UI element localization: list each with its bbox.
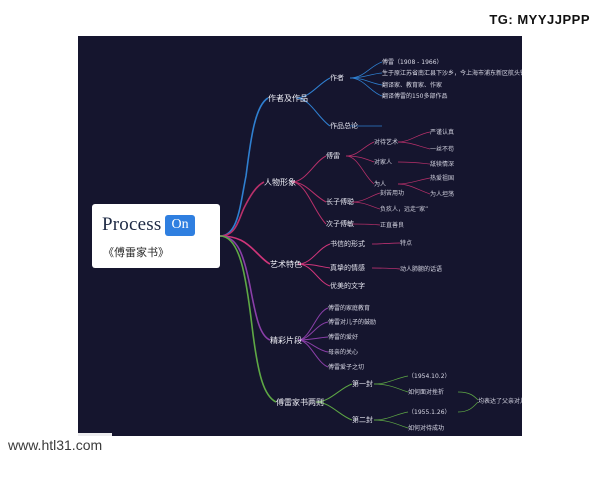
mindmap-canvas[interactable]: Process On 《傅雷家书》 作者及作品 作者 傅雷（1908 - 196… xyxy=(78,36,522,436)
node-letters-summary[interactable]: 均表达了父亲对儿子的舐犊之情 xyxy=(478,396,522,407)
node-excerpt-3[interactable]: 傅雷的爱好 xyxy=(328,332,358,343)
node-art-trait-2[interactable]: 一丝不苟 xyxy=(430,144,454,155)
node-excerpt-4[interactable]: 母亲的关心 xyxy=(328,347,358,358)
node-fulei[interactable]: 傅雷 xyxy=(326,151,340,162)
node-letter-2[interactable]: 第二封 xyxy=(352,415,373,426)
node-fucong[interactable]: 长子傅聪 xyxy=(326,197,354,208)
node-letter-1[interactable]: 第一封 xyxy=(352,379,373,390)
node-author-life[interactable]: 傅雷（1908 - 1966） xyxy=(382,57,443,68)
node-sincere-emotion[interactable]: 真挚的情感 xyxy=(330,263,365,274)
node-fumin[interactable]: 次子傅敏 xyxy=(326,219,354,230)
node-author-translations[interactable]: 翻译傅雷的150多部作品 xyxy=(382,91,447,102)
node-to-family[interactable]: 对家人 xyxy=(374,157,392,168)
telegram-badge: TG: MYYJJPPP xyxy=(479,8,600,32)
screenshot-stage: Process On 《傅雷家书》 作者及作品 作者 傅雷（1908 - 196… xyxy=(0,0,600,480)
node-artistic-features[interactable]: 艺术特色 xyxy=(270,259,302,270)
node-excerpt-5[interactable]: 傅雷爱子之切 xyxy=(328,362,364,373)
node-author-roles[interactable]: 翻译家、教育家、作家 xyxy=(382,80,442,91)
node-author-and-works[interactable]: 作者及作品 xyxy=(268,93,308,104)
processon-logo-card[interactable]: Process On 《傅雷家书》 xyxy=(92,204,220,268)
node-letter-1-date[interactable]: （1954.10.2） xyxy=(408,371,451,382)
node-excerpts[interactable]: 精彩片段 xyxy=(270,335,302,346)
node-author-birthplace[interactable]: 生于原江苏省南汇县下沙乡，今上海市浦东新区航头镇 xyxy=(382,68,522,79)
node-two-letters[interactable]: 傅雷家书两则 xyxy=(276,397,324,408)
node-letter-form[interactable]: 书信的形式 xyxy=(330,239,365,250)
logo-wordmark: Process On xyxy=(102,214,195,236)
node-art-trait-1[interactable]: 严谨认真 xyxy=(430,127,454,138)
node-letter-2-theme[interactable]: 如何对待成功 xyxy=(408,423,444,434)
logo-subtitle: 《傅雷家书》 xyxy=(103,244,169,260)
node-fumin-trait-1[interactable]: 正直善良 xyxy=(380,220,404,231)
logo-word-on: On xyxy=(165,215,194,236)
node-works-overview[interactable]: 作品总论 xyxy=(330,121,358,132)
node-attitude-to-art[interactable]: 对待艺术 xyxy=(374,137,398,148)
node-letter-2-date[interactable]: （1955.1.26） xyxy=(408,407,451,418)
logo-word-process: Process xyxy=(102,214,161,236)
node-fucong-trait-2[interactable]: 负疚人，远走“家” xyxy=(380,204,428,215)
node-beautiful-text[interactable]: 优美的文字 xyxy=(330,281,365,292)
node-characters[interactable]: 人物形象 xyxy=(264,177,296,188)
node-letter-form-trait[interactable]: 特点 xyxy=(400,238,412,249)
node-person-trait-2[interactable]: 为人坦荡 xyxy=(430,189,454,200)
node-excerpt-2[interactable]: 傅雷对儿子的鼓励 xyxy=(328,317,376,328)
node-sincere-emotion-trait[interactable]: 动人肺腑的话语 xyxy=(400,264,442,275)
node-fucong-trait-1[interactable]: 刻苦用功 xyxy=(380,188,404,199)
node-family-trait-1[interactable]: 舐犊情深 xyxy=(430,159,454,170)
node-letter-1-theme[interactable]: 如何面对挫折 xyxy=(408,387,444,398)
node-excerpt-1[interactable]: 傅雷的家庭教育 xyxy=(328,303,370,314)
node-author[interactable]: 作者 xyxy=(330,73,344,84)
site-watermark: www.htl31.com xyxy=(0,433,112,458)
node-person-trait-1[interactable]: 热爱祖国 xyxy=(430,173,454,184)
